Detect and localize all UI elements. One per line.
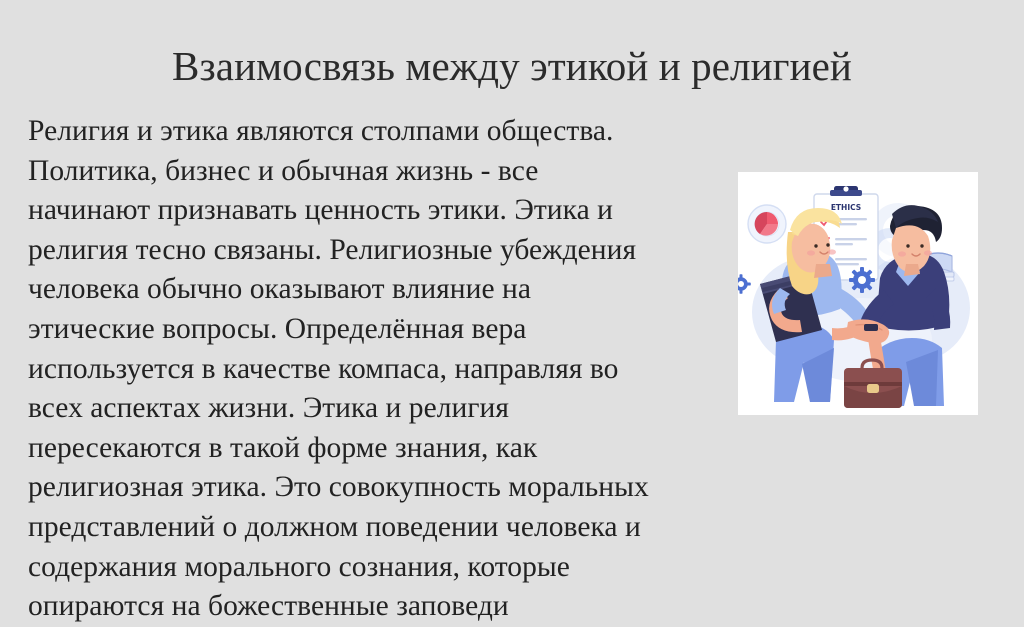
pie-chart-icon xyxy=(748,205,786,243)
body-line: религия тесно связаны. Религиозные убежд… xyxy=(28,231,728,271)
illustration-panel: ETHICS xyxy=(738,172,978,415)
body-line: содержания морального сознания, которые xyxy=(28,548,728,588)
body-line: используется в качестве компаса, направл… xyxy=(28,350,728,390)
body-line: всех аспектах жизни. Этика и религия xyxy=(28,389,728,429)
body-paragraph: Религия и этика являются столпами общест… xyxy=(28,112,728,627)
body-line: представлений о должном поведении челове… xyxy=(28,508,728,548)
page-title: Взаимосвязь между этикой и религией xyxy=(0,41,1024,91)
body-line: человека обычно оказывают влияние на xyxy=(28,270,728,310)
body-line: начинают признавать ценность этики. Этик… xyxy=(28,191,728,231)
body-line: этические вопросы. Определённая вера xyxy=(28,310,728,350)
handshake-ethics-illustration: ETHICS xyxy=(738,172,978,415)
body-line: пересекаются в такой форме знания, как xyxy=(28,429,728,469)
body-line: опираются на божественные заповеди xyxy=(28,587,728,627)
clipboard-title-text: ETHICS xyxy=(831,203,861,212)
slide-canvas: Взаимосвязь между этикой и религией Рели… xyxy=(0,0,1024,574)
gear-icon xyxy=(849,267,875,293)
body-line: религиозная этика. Это совокупность мора… xyxy=(28,468,728,508)
body-line: Религия и этика являются столпами общест… xyxy=(28,112,728,152)
body-line: Политика, бизнес и обычная жизнь - все xyxy=(28,152,728,192)
